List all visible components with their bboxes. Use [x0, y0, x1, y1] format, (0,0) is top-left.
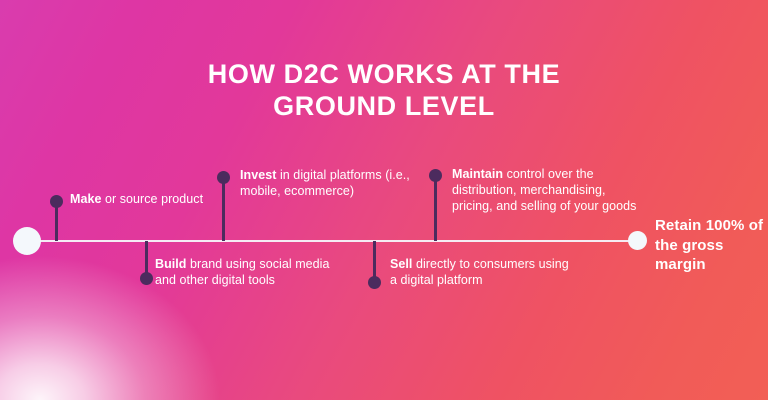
infographic-canvas: HOW D2C WORKS AT THE GROUND LEVEL Make o…: [0, 0, 768, 400]
step-lead-build: Build: [155, 257, 187, 271]
outcome-label: Retain 100% of the gross margin: [655, 216, 765, 275]
timeline-end-node-icon: [628, 231, 647, 250]
connector-dot-invest: [217, 171, 230, 184]
step-label-sell: Sell directly to consumers using a digit…: [390, 256, 570, 288]
connector-dot-build: [140, 272, 153, 285]
connector-dot-make: [50, 195, 63, 208]
step-lead-make: Make: [70, 192, 101, 206]
step-rest-make: or source product: [101, 192, 203, 206]
connector-stem-maintain: [434, 180, 437, 241]
step-label-invest: Invest in digital platforms (i.e., mobil…: [240, 167, 430, 199]
page-title: HOW D2C WORKS AT THE GROUND LEVEL: [0, 58, 768, 122]
connector-stem-invest: [222, 182, 225, 241]
connector-stem-make: [55, 205, 58, 241]
connector-dot-maintain: [429, 169, 442, 182]
connector-stem-sell: [373, 241, 376, 281]
step-lead-invest: Invest: [240, 168, 276, 182]
step-label-make: Make or source product: [70, 191, 220, 207]
step-label-maintain: Maintain control over the distribution, …: [452, 166, 642, 214]
step-lead-maintain: Maintain: [452, 167, 503, 181]
step-rest-sell: directly to consumers using a digital pl…: [390, 257, 569, 287]
step-lead-sell: Sell: [390, 257, 412, 271]
step-label-build: Build brand using social media and other…: [155, 256, 330, 288]
timeline-axis: [27, 240, 639, 242]
timeline-start-node-icon: [13, 227, 41, 255]
connector-dot-sell: [368, 276, 381, 289]
